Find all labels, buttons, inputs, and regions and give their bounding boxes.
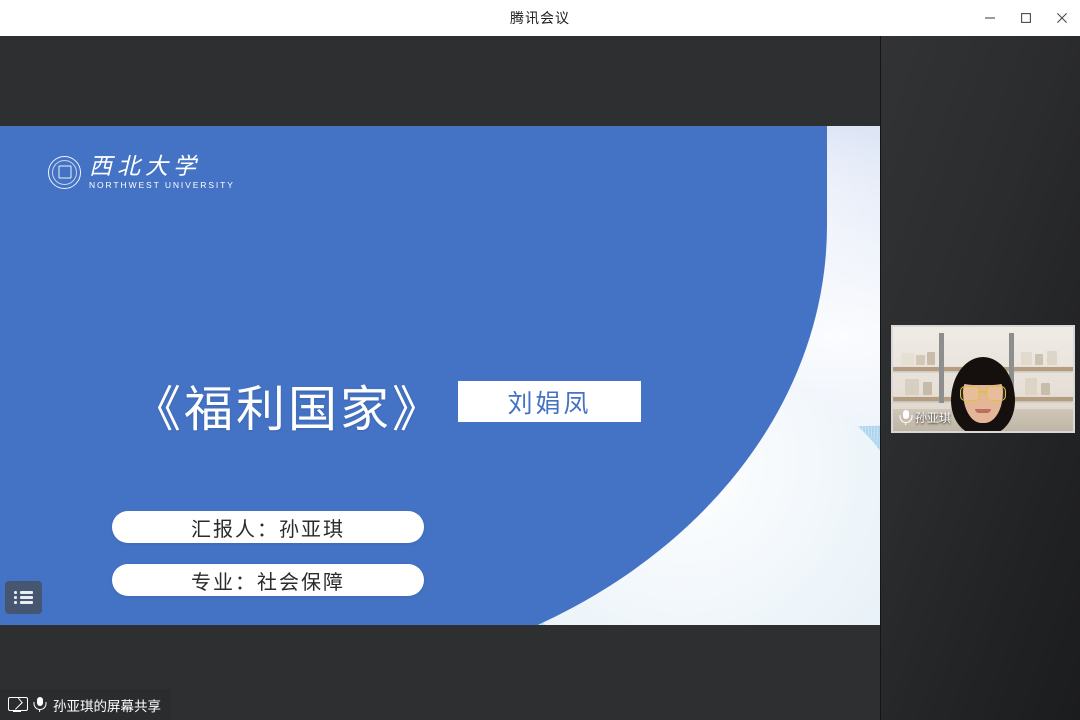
microphone-icon <box>33 697 46 712</box>
participant-panel[interactable]: 孙亚琪 <box>880 36 1080 720</box>
university-logo-text: 西北大学 NORTHWEST UNIVERSITY <box>89 155 235 190</box>
author-name: 刘娟凤 <box>507 384 591 420</box>
video-shelf-post <box>939 333 944 403</box>
shared-screen-region[interactable]: 西北大学 NORTHWEST UNIVERSITY 《福利国家》 刘娟凤 汇报人… <box>0 36 880 720</box>
video-book <box>1035 354 1043 365</box>
video-book <box>905 379 919 395</box>
participant-name: 孙亚琪 <box>915 409 951 426</box>
slideshow-menu-button[interactable] <box>5 581 42 614</box>
letterbox-top <box>0 36 880 126</box>
slide-title: 《福利国家》 <box>132 370 444 441</box>
minimize-icon <box>984 12 996 24</box>
screen-share-icon <box>8 697 26 712</box>
window-titlebar: 腾讯会议 <box>0 0 1080 37</box>
university-name-en: NORTHWEST UNIVERSITY <box>89 181 235 190</box>
video-book <box>1021 352 1032 365</box>
video-book <box>916 355 925 365</box>
window-title: 腾讯会议 <box>510 8 570 28</box>
video-book <box>927 352 935 365</box>
maximize-icon <box>1020 12 1032 24</box>
video-book <box>901 353 914 365</box>
video-person <box>951 357 1015 433</box>
video-book <box>1047 351 1057 365</box>
university-seal-icon <box>48 156 81 189</box>
presenter-pill: 汇报人：孙亚琪 <box>112 511 424 543</box>
video-book <box>1025 378 1037 395</box>
author-box: 刘娟凤 <box>458 381 641 422</box>
minimize-button[interactable] <box>972 0 1008 36</box>
tencent-meeting-window: 腾讯会议 <box>0 0 1080 720</box>
participant-video-tile[interactable]: 孙亚琪 <box>891 325 1075 433</box>
video-book <box>923 382 932 395</box>
microphone-icon <box>899 410 912 425</box>
presenter-pill-label: 汇报人：孙亚琪 <box>191 513 345 542</box>
major-pill: 专业：社会保障 <box>112 564 424 596</box>
maximize-button[interactable] <box>1008 0 1044 36</box>
share-status-text: 孙亚琪的屏幕共享 <box>53 695 161 715</box>
video-person-glasses <box>960 386 1006 399</box>
window-controls <box>972 0 1080 36</box>
university-name-cn: 西北大学 <box>89 155 235 178</box>
major-pill-label: 专业：社会保障 <box>191 566 345 595</box>
share-status-bar[interactable]: 孙亚琪的屏幕共享 <box>0 689 171 720</box>
video-book <box>1041 383 1050 395</box>
video-person-mouth <box>975 409 991 413</box>
close-icon <box>1056 12 1068 24</box>
video-name-label: 孙亚琪 <box>897 408 955 427</box>
presentation-slide[interactable]: 西北大学 NORTHWEST UNIVERSITY 《福利国家》 刘娟凤 汇报人… <box>0 126 880 625</box>
university-logo: 西北大学 NORTHWEST UNIVERSITY <box>48 155 235 190</box>
list-menu-icon <box>14 589 33 607</box>
close-button[interactable] <box>1044 0 1080 36</box>
